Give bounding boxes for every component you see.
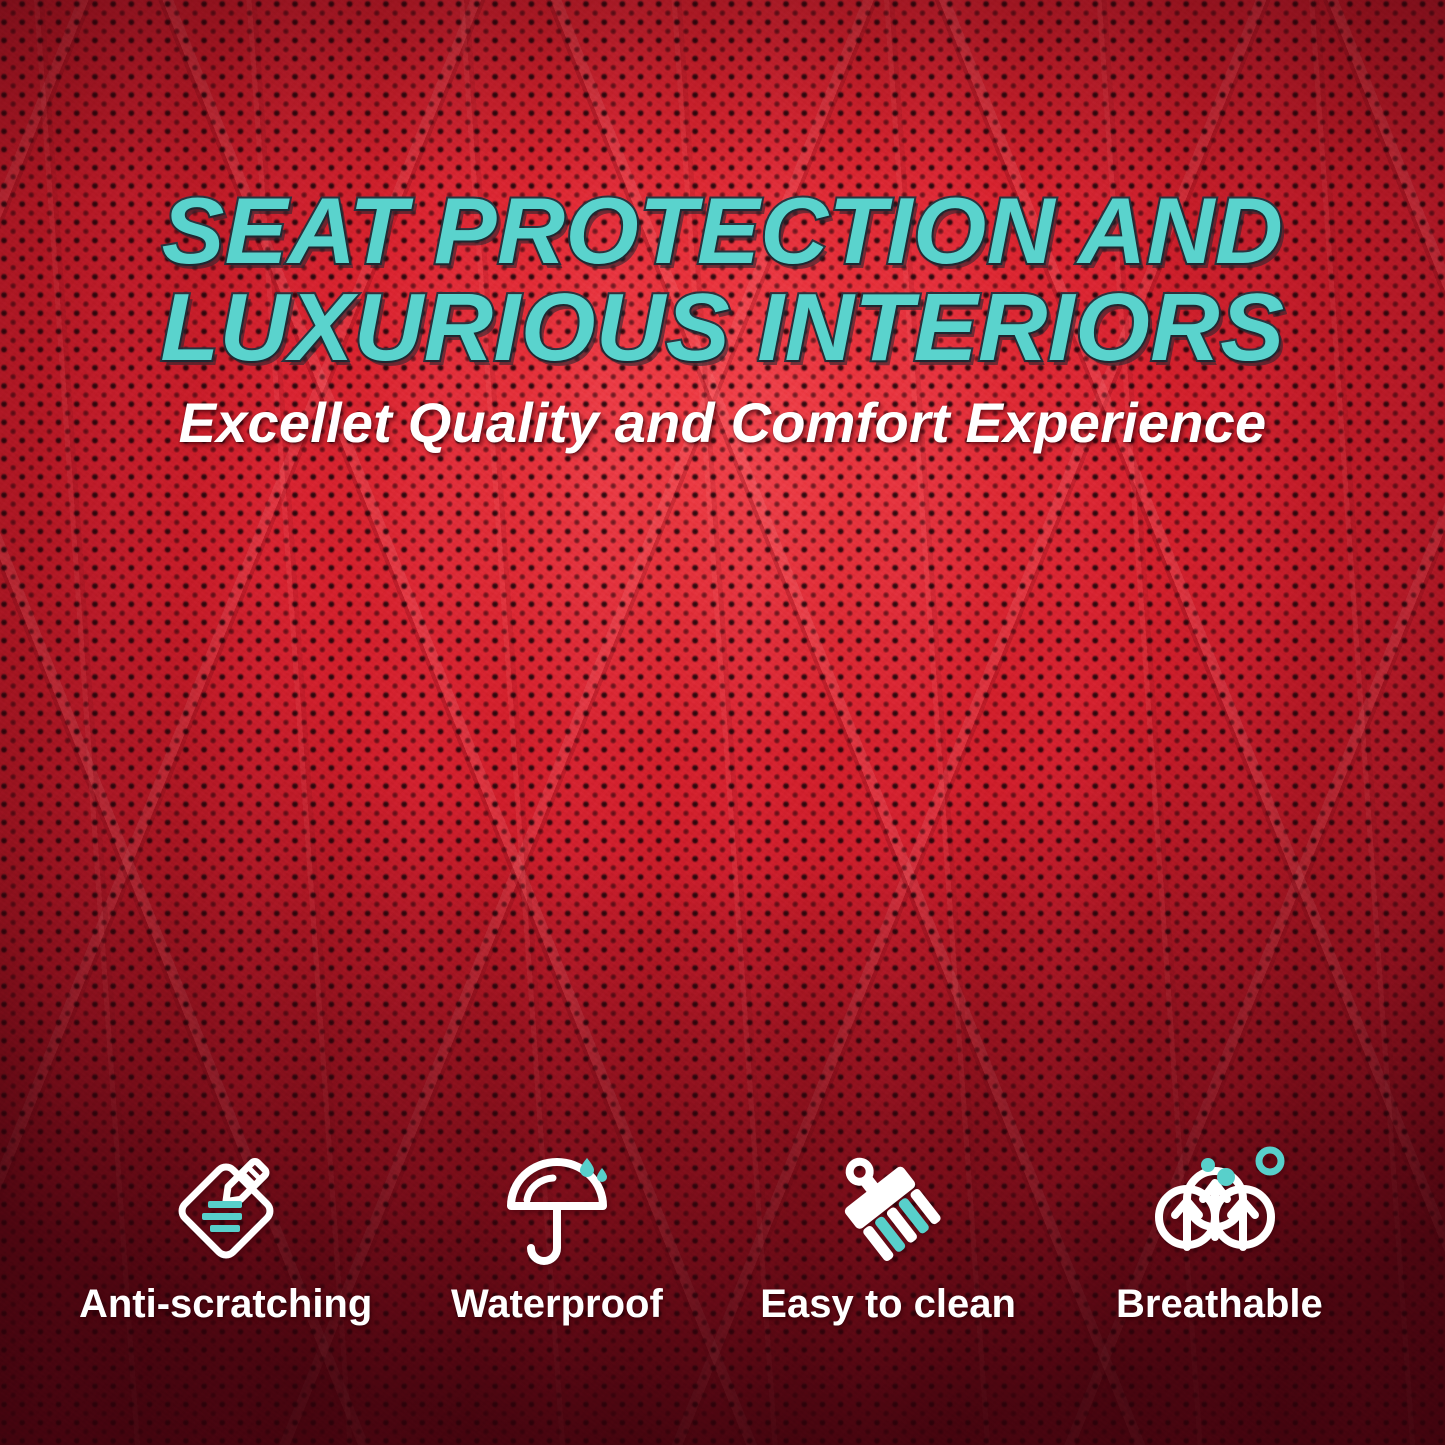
feature-waterproof: Waterproof [391, 1107, 722, 1327]
headline: SEAT PROTECTION AND LUXURIOUS INTERIORS [0, 182, 1445, 376]
headline-line-2: LUXURIOUS INTERIORS [0, 279, 1445, 376]
feature-label: Breathable [1116, 1281, 1323, 1327]
feature-label: Anti-scratching [79, 1281, 372, 1327]
brush-icon [813, 1143, 963, 1275]
product-feature-banner: SEAT PROTECTION AND LUXURIOUS INTERIORS … [0, 0, 1445, 1445]
feature-breathable: Breathable [1054, 1107, 1385, 1327]
scratch-resistant-icon [151, 1143, 301, 1275]
feature-easy-to-clean: Easy to clean [723, 1107, 1054, 1327]
airflow-clouds-icon [1144, 1143, 1294, 1275]
feature-label: Easy to clean [760, 1281, 1016, 1327]
feature-anti-scratching: Anti-scratching [60, 1107, 391, 1327]
umbrella-icon [482, 1143, 632, 1275]
feature-label: Waterproof [451, 1281, 663, 1327]
headline-line-1: SEAT PROTECTION AND [0, 182, 1445, 279]
subtitle: Excellet Quality and Comfort Experience [0, 392, 1445, 454]
feature-row: Anti-scratching Waterproof [60, 1107, 1385, 1327]
